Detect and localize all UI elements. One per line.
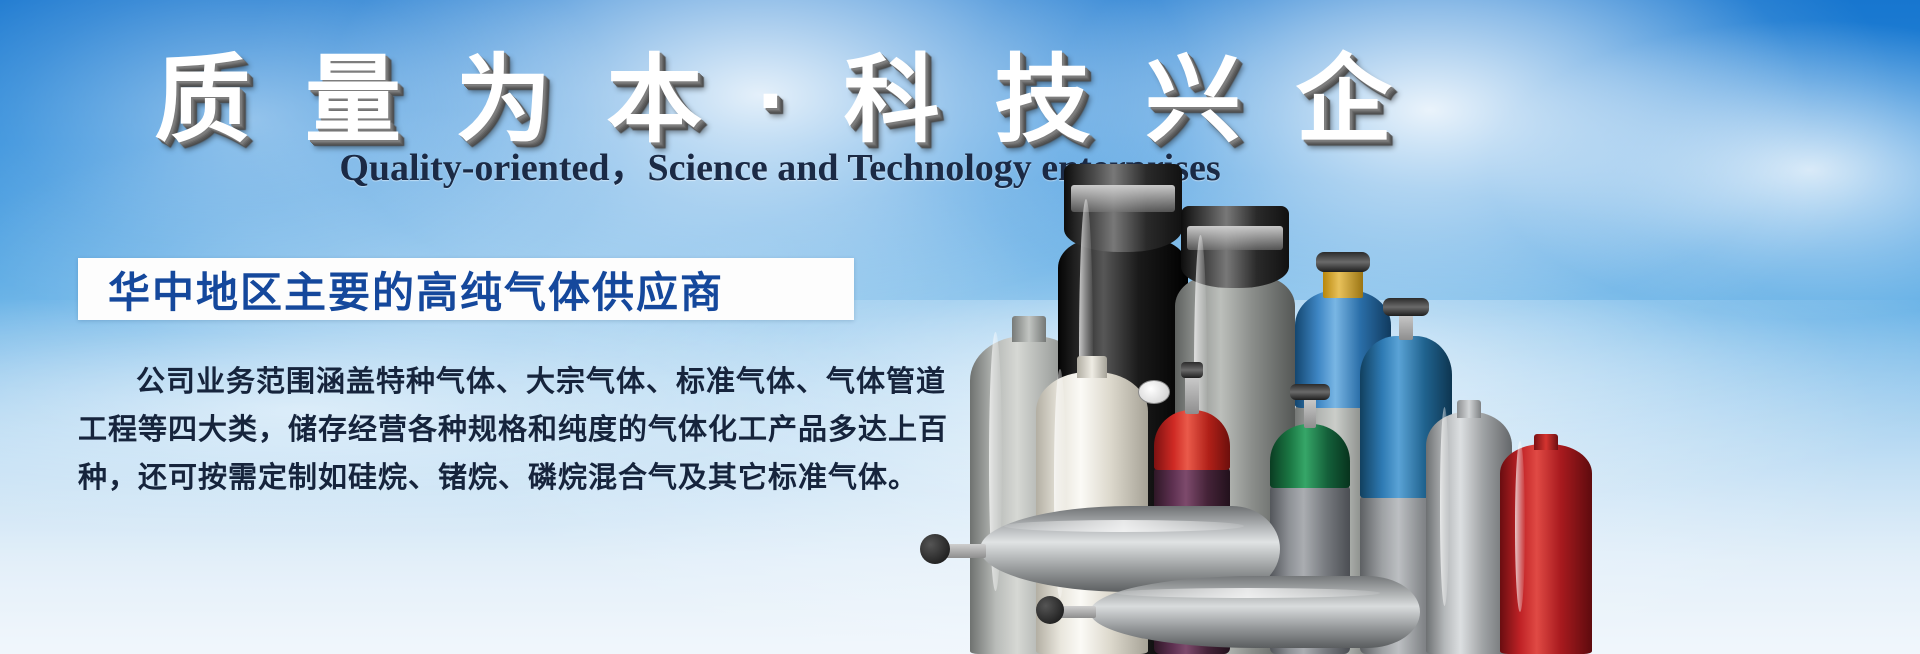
cylinder-highlight <box>1440 407 1449 605</box>
valve-knob <box>1290 384 1330 400</box>
cylinder-neck <box>1012 316 1046 342</box>
body-line-1: 公司业务范围涵盖特种气体、大宗气体、标准气体、气体管道 <box>78 358 868 406</box>
cylinder-shoulder <box>1154 410 1230 470</box>
cylinder-neck <box>1457 400 1481 418</box>
valve-stem <box>1399 312 1413 340</box>
valve-stem <box>1304 396 1316 428</box>
valve-knob <box>1383 298 1429 316</box>
cylinder-neck <box>1534 434 1558 450</box>
tank-knob <box>1036 596 1064 624</box>
cylinder-neck <box>1077 356 1107 378</box>
highlight-box-label: 华中地区主要的高纯气体供应商 <box>108 259 724 320</box>
cylinder-shoulder <box>1270 424 1350 488</box>
valve-knob <box>1316 252 1370 272</box>
valve-stem <box>1185 374 1199 414</box>
body-line-3: 种，还可按需定制如硅烷、锗烷、磷烷混合气及其它标准气体。 <box>78 454 868 502</box>
tank-highlight <box>1004 520 1244 532</box>
gas-cylinder-collage: 氮气 <box>940 0 1920 654</box>
tank-stem <box>1060 606 1096 618</box>
tank-knob <box>920 534 950 564</box>
cylinder-highlight <box>1515 441 1525 613</box>
valve-knob <box>1181 362 1203 378</box>
hero-banner: 质 量 为 本 · 科 技 兴 企 Quality-oriented，Scien… <box>0 0 1920 654</box>
tank-highlight <box>1116 588 1380 598</box>
cylinder-body <box>1500 444 1592 654</box>
brass-valve <box>1323 268 1363 298</box>
body-copy: 公司业务范围涵盖特种气体、大宗气体、标准气体、气体管道 工程等四大类，储存经营各… <box>78 358 868 502</box>
pressure-gauge-icon <box>1138 380 1170 404</box>
highlight-box: 华中地区主要的高纯气体供应商 <box>78 258 854 320</box>
body-line-2: 工程等四大类，储存经营各种规格和纯度的气体化工产品多达上百 <box>78 406 868 454</box>
red-cylinder <box>1500 422 1592 654</box>
horizontal-grey-tank <box>1090 576 1420 648</box>
tank-stem <box>946 544 986 558</box>
